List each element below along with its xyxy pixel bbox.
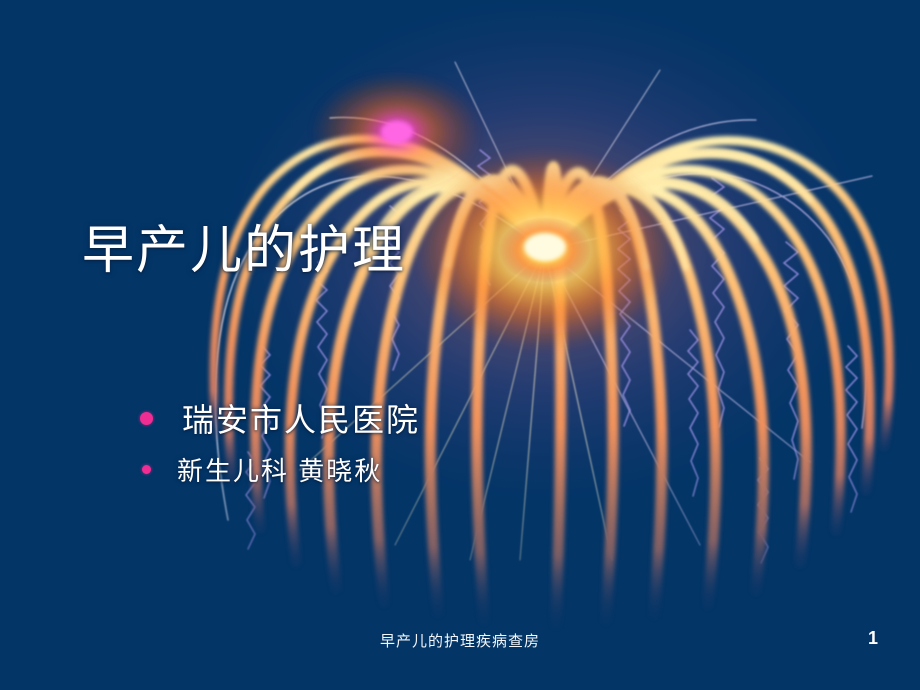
slide-content: 早产儿的护理 瑞安市人民医院 新生儿科 黄晓秋 早产儿的护理疾病查房 1 [0, 0, 920, 690]
bullet-dot-icon [142, 465, 151, 474]
bullet-list: 瑞安市人民医院 新生儿科 黄晓秋 [140, 395, 420, 488]
page-title: 早产儿的护理 [82, 222, 406, 282]
list-item: 瑞安市人民医院 [140, 395, 420, 441]
slide-canvas: 早产儿的护理 瑞安市人民医院 新生儿科 黄晓秋 早产儿的护理疾病查房 1 [0, 0, 920, 690]
bullet-dot-icon [140, 412, 153, 425]
list-item: 新生儿科 黄晓秋 [140, 451, 420, 488]
slide-page-number: 1 [868, 628, 878, 649]
bullet-label: 新生儿科 黄晓秋 [177, 451, 382, 488]
bullet-label: 瑞安市人民医院 [182, 395, 420, 441]
slide-footer-text: 早产儿的护理疾病查房 [0, 630, 920, 651]
